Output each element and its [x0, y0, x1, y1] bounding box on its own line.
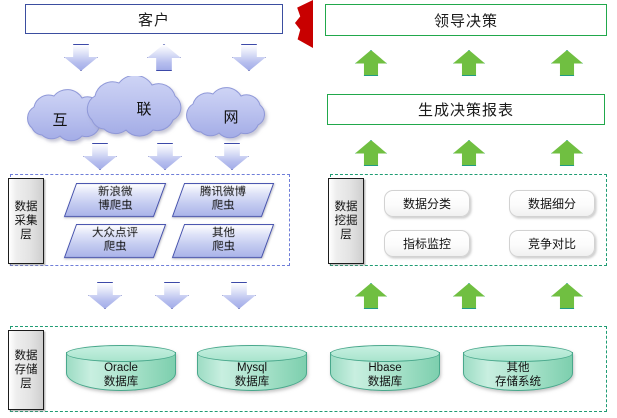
storage-node-mysql-top [197, 345, 307, 362]
collect-down-arrow-left-icon [88, 282, 122, 309]
mining-node-competitor-comparison[interactable]: 竞争对比 [509, 230, 595, 257]
crawler-node-sina-label: 新浪微 博爬虫 [98, 186, 133, 214]
storage-node-oracle[interactable]: Oracle 数据库 [66, 344, 176, 396]
cloud-label-2: 网 [213, 106, 249, 127]
cloud-label-0: 互 [42, 109, 78, 130]
storage-layer-tag-line-2: 层 [20, 377, 32, 391]
leader-decision-label: 领导决策 [434, 10, 498, 31]
collect-down-arrow-mid-icon [155, 282, 189, 309]
report-up-arrow-left-icon [355, 140, 387, 166]
client-down-arrow-right-icon [232, 44, 266, 71]
storage-node-hbase-top [330, 345, 440, 362]
report-generation-box[interactable]: 生成决策报表 [327, 94, 605, 125]
client-down-arrow-left-icon [64, 44, 98, 71]
cloud-down-arrow-right-icon [215, 143, 249, 170]
collect-layer-tag-line-0: 数据 [15, 200, 38, 214]
mining-node-segmentation[interactable]: 数据细分 [509, 190, 595, 217]
mining-layer-tag-line-0: 数据 [335, 200, 358, 214]
storage-node-mysql-label: Mysql 数据库 [197, 361, 307, 390]
crawler-node-other[interactable]: 其他 爬虫 [172, 224, 274, 258]
storage-layer-tag-line-1: 存储 [15, 363, 38, 377]
crawler-node-tencent-label: 腾讯微博 爬虫 [200, 186, 246, 214]
mining-layer-tag-line-2: 层 [340, 228, 352, 242]
cloud-label-1: 联 [126, 98, 162, 119]
leader-up-arrow-right-icon [551, 50, 583, 76]
mining-up-arrow-mid-icon [453, 283, 485, 309]
collect-layer-tag-line-1: 采集 [15, 214, 38, 228]
client-box-label: 客户 [138, 9, 170, 30]
internet-cloud-svg [8, 76, 296, 146]
crawler-node-dianping[interactable]: 大众点评 爬虫 [64, 224, 166, 258]
storage-node-mysql[interactable]: Mysql 数据库 [197, 344, 307, 396]
crawler-node-other-label: 其他 爬虫 [212, 227, 235, 255]
cloud-down-arrow-left-icon [83, 143, 117, 170]
mining-layer-tag: 数据 挖掘 层 [328, 178, 364, 264]
leader-up-arrow-left-icon [355, 50, 387, 76]
storage-node-other-label: 其他 存储系统 [463, 361, 573, 390]
cloud-down-arrow-mid-icon [148, 143, 182, 170]
storage-node-hbase[interactable]: Hbase 数据库 [330, 344, 440, 396]
mining-node-metric-monitoring-label: 指标监控 [403, 235, 451, 252]
mining-node-classification-label: 数据分类 [403, 195, 451, 212]
mining-up-arrow-left-icon [355, 283, 387, 309]
report-generation-label: 生成决策报表 [418, 99, 514, 120]
client-box[interactable]: 客户 [25, 4, 283, 34]
crawler-node-sina[interactable]: 新浪微 博爬虫 [64, 183, 166, 217]
mining-up-arrow-right-icon [551, 283, 583, 309]
leader-up-arrow-mid-icon [453, 50, 485, 76]
mining-node-metric-monitoring[interactable]: 指标监控 [384, 230, 470, 257]
mining-layer-tag-line-1: 挖掘 [335, 214, 358, 228]
crawler-node-dianping-label: 大众点评 爬虫 [92, 227, 138, 255]
crawler-node-tencent[interactable]: 腾讯微博 爬虫 [172, 183, 274, 217]
internet-cloud: 互 联 网 [8, 76, 296, 146]
client-up-arrow-mid-icon [147, 44, 181, 71]
storage-node-hbase-label: Hbase 数据库 [330, 361, 440, 390]
diagram-canvas: 客户 领导决策 生成决策报表 [0, 0, 617, 418]
mining-node-classification[interactable]: 数据分类 [384, 190, 470, 217]
red-left-arrow-icon [291, 0, 313, 48]
storage-node-other-top [463, 345, 573, 362]
collect-layer-tag-line-2: 层 [20, 228, 32, 242]
storage-node-other[interactable]: 其他 存储系统 [463, 344, 573, 396]
collect-layer-tag: 数据 采集 层 [8, 178, 44, 264]
report-up-arrow-mid-icon [453, 140, 485, 166]
storage-layer-tag-line-0: 数据 [15, 349, 38, 363]
storage-node-oracle-top [66, 345, 176, 362]
report-up-arrow-right-icon [551, 140, 583, 166]
collect-down-arrow-right-icon [222, 282, 256, 309]
mining-node-competitor-comparison-label: 竞争对比 [528, 235, 576, 252]
storage-layer-tag: 数据 存储 层 [8, 330, 44, 410]
storage-node-oracle-label: Oracle 数据库 [66, 361, 176, 390]
mining-node-segmentation-label: 数据细分 [528, 195, 576, 212]
leader-decision-box[interactable]: 领导决策 [325, 4, 607, 36]
